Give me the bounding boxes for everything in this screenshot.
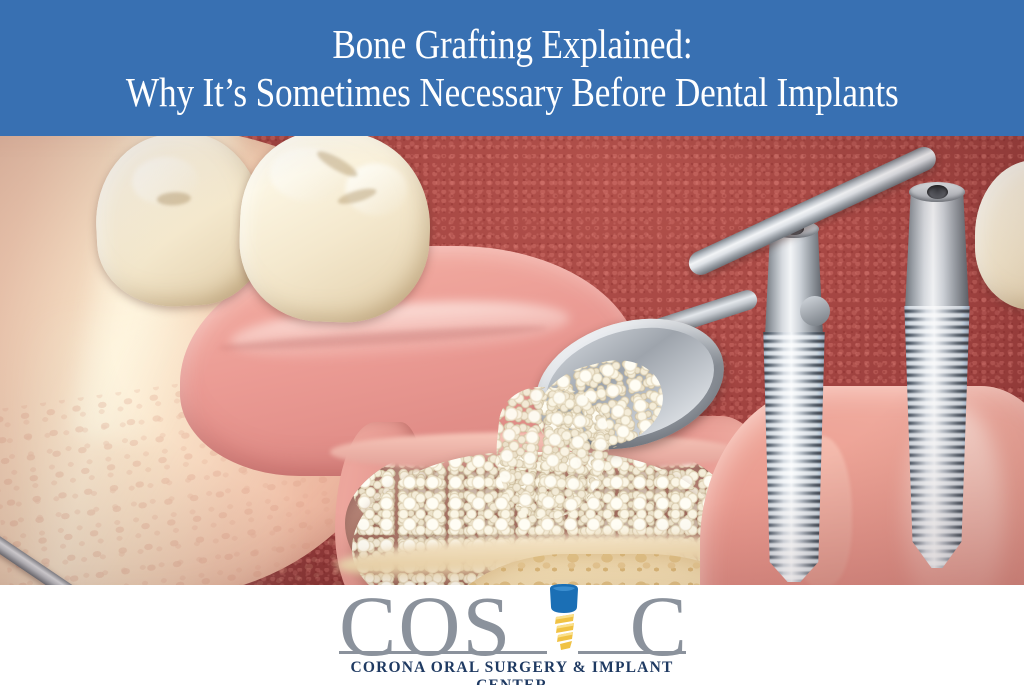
implant-screw-body: [762, 332, 826, 582]
page-root: Bone Grafting Explained: Why It’s Someti…: [0, 0, 1024, 685]
tooth-fissure: [157, 191, 192, 206]
logo-tagline: CORONA ORAL SURGERY & IMPLANT CENTER: [331, 659, 693, 685]
footer-logo-area: COS C: [0, 585, 1024, 685]
logo-letters-cos: COS: [339, 583, 512, 669]
logo-mark: COS C: [331, 589, 693, 655]
logo-underline-left: [339, 651, 547, 654]
implant-icon: [544, 583, 584, 655]
logo-underline-right: [578, 651, 686, 654]
tooth-cusp: [269, 146, 347, 203]
header-banner: Bone Grafting Explained: Why It’s Someti…: [0, 0, 1024, 136]
implant-abutment: [905, 192, 969, 310]
logo-letter-c: C: [630, 583, 687, 669]
cosic-logo[interactable]: COS C: [331, 589, 693, 681]
dental-illustration: [0, 136, 1024, 585]
abutment-screw-bore: [927, 185, 948, 199]
page-title-line-2: Why It’s Sometimes Necessary Before Dent…: [126, 68, 899, 117]
molar-tooth-second: [237, 136, 434, 325]
implant-screw-body: [903, 306, 971, 568]
page-title-line-1: Bone Grafting Explained:: [332, 20, 692, 68]
